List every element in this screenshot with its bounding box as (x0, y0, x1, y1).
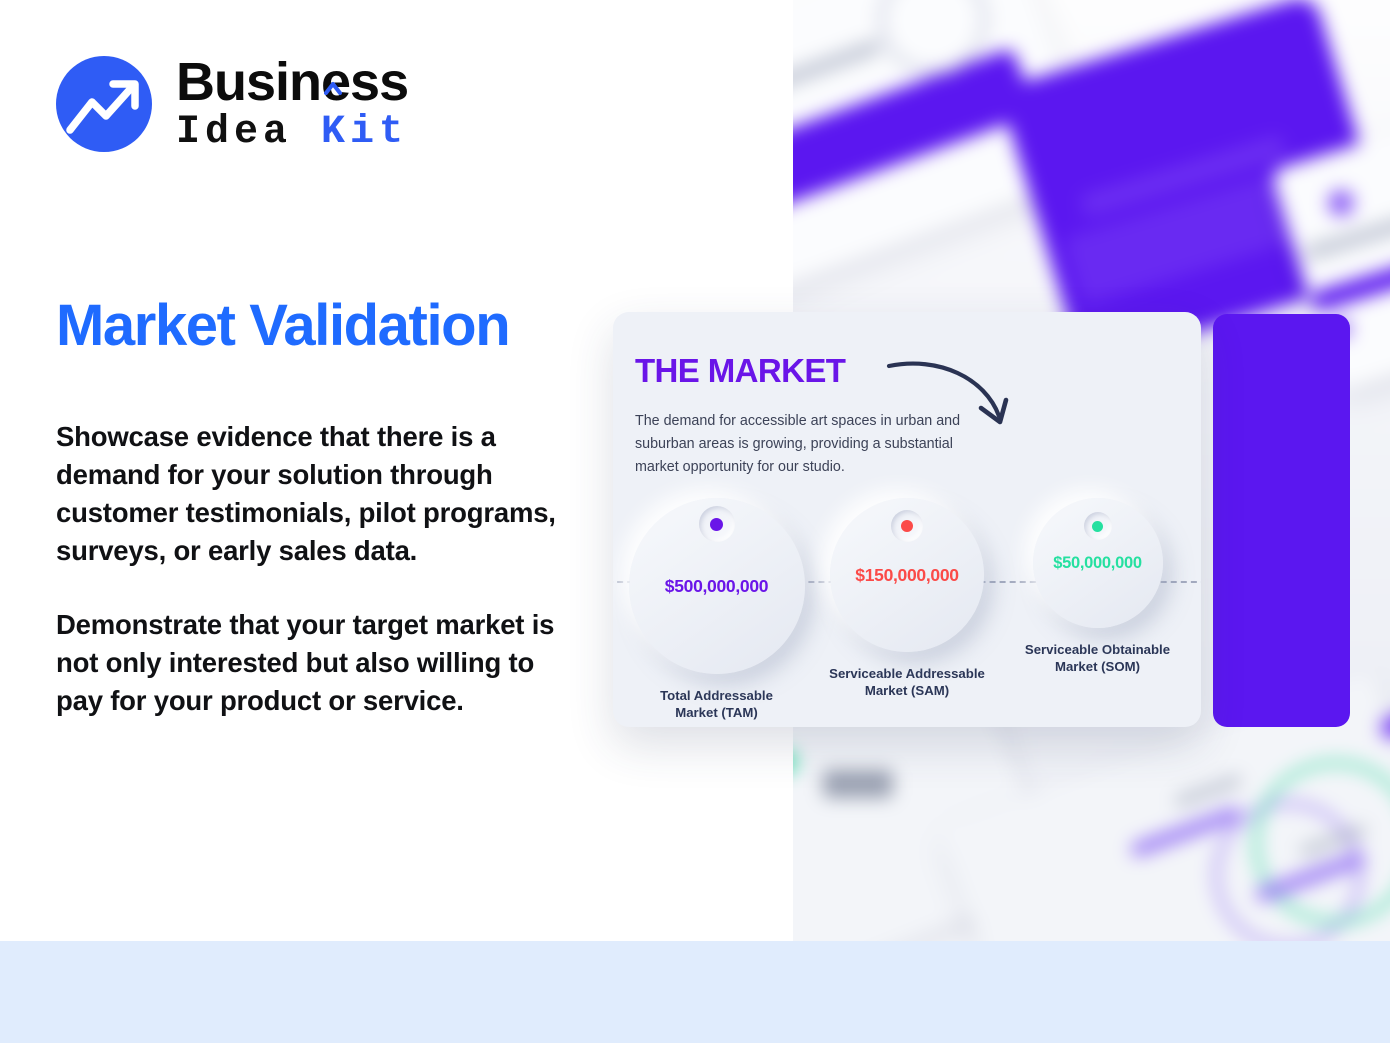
green-status-dot-icon (1092, 521, 1103, 532)
slide-canvas: Business Idea Kit Market Validation Show… (0, 0, 1390, 1043)
brand-name-idea: Idea (176, 110, 292, 155)
brand-logo[interactable]: Business Idea Kit (56, 53, 408, 154)
purple-accent-slab (1213, 314, 1350, 727)
body-copy: Showcase evidence that there is a demand… (56, 418, 576, 720)
market-bubble-tam[interactable]: $500,000,000 Total Addressable Market (T… (625, 498, 808, 721)
market-bubble-sam[interactable]: $150,000,000 Serviceable Addressable Mar… (816, 498, 999, 721)
purple-status-dot-icon (710, 518, 723, 531)
market-card: THE MARKET The demand for accessible art… (613, 312, 1201, 727)
bottom-accent-band (0, 941, 1390, 1043)
body-paragraph-1: Showcase evidence that there is a demand… (56, 418, 576, 570)
orb-sam: $150,000,000 (830, 498, 984, 652)
knob-tam (699, 506, 735, 542)
amount-som: $50,000,000 (1053, 554, 1141, 573)
red-status-dot-icon (901, 520, 913, 532)
orb-som: $50,000,000 (1033, 498, 1163, 628)
label-tam: Total Addressable Market (TAM) (660, 688, 773, 721)
chevron-up-accent-icon (324, 50, 342, 64)
knob-som (1084, 512, 1112, 540)
knob-sam (891, 510, 923, 542)
brand-wordmark: Business Idea Kit (176, 53, 408, 154)
label-som: Serviceable Obtainable Market (SOM) (1025, 642, 1170, 675)
growth-arrow-icon (56, 56, 152, 152)
body-paragraph-2: Demonstrate that your target market is n… (56, 606, 576, 720)
market-bubble-som[interactable]: $50,000,000 Serviceable Obtainable Marke… (1006, 498, 1189, 721)
curved-arrow-down-right-icon (885, 350, 1025, 442)
market-bubbles: $500,000,000 Total Addressable Market (T… (613, 498, 1201, 721)
brand-name-business: Business (176, 52, 408, 112)
brand-name-kit: Kit (321, 110, 408, 155)
market-card-title: THE MARKET (635, 352, 845, 390)
page-title: Market Validation (56, 296, 509, 357)
orb-tam: $500,000,000 (629, 498, 805, 674)
brand-name-line1: Business (176, 55, 408, 110)
brand-name-line2: Idea Kit (176, 112, 408, 154)
amount-sam: $150,000,000 (855, 565, 958, 586)
label-sam: Serviceable Addressable Market (SAM) (829, 666, 985, 699)
amount-tam: $500,000,000 (665, 576, 768, 597)
